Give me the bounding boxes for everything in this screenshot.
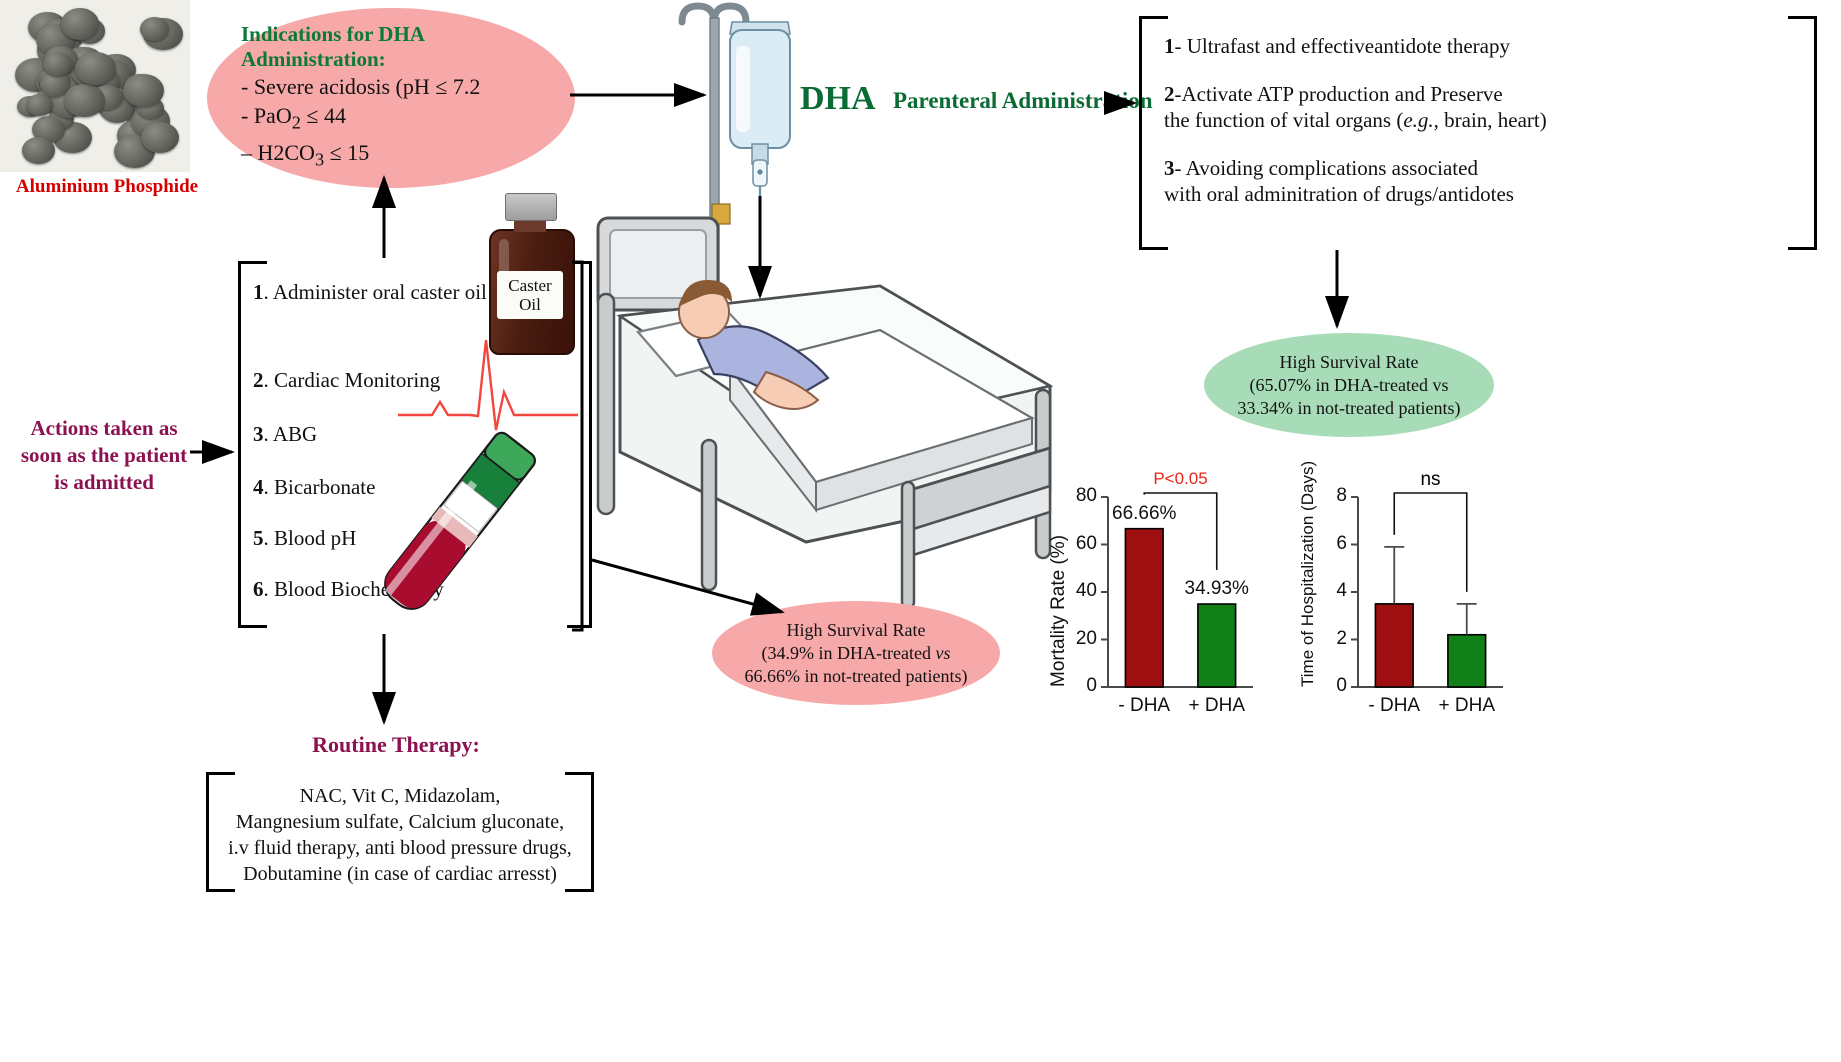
mortality-y-axis-label: Mortality Rate (%) (1048, 535, 1070, 687)
action-item-3: 3. ABG (253, 422, 317, 447)
indications-title-line2: Administration: (241, 47, 541, 72)
hospitalization-significance-label: ns (1371, 469, 1491, 491)
survival-green-line-1: High Survival Rate (1238, 351, 1461, 374)
action-item-1: 1. Administer oral caster oil (253, 280, 487, 305)
routine-line-4: Dobutamine (in case of cardiac arresst) (215, 861, 585, 887)
mortality-xtick-1: + DHA (1167, 695, 1267, 717)
aluminium-phosphide-caption: Aluminium Phosphide (0, 176, 214, 198)
bottle-label: CasterOil (497, 271, 563, 319)
action-item-5: 5. Blood pH (253, 526, 356, 551)
phosphide-pellet (123, 74, 164, 108)
benefit-item-1: 1- Ultrafast and effectiveantidote thera… (1164, 33, 1796, 59)
phosphide-pellet (43, 52, 72, 76)
dha-subtitle: Parenteral Administration (893, 88, 1153, 114)
phosphide-pellet (75, 52, 115, 85)
hospitalization-significance-bracket (1394, 493, 1467, 592)
hospitalization-bar-0 (1375, 604, 1413, 687)
indications-title: Indications for DHA Administration: (241, 22, 541, 72)
mortality-significance-label: P<0.05 (1121, 469, 1241, 489)
phosphide-pellet (140, 17, 169, 41)
hospitalization-xtick-1: + DHA (1417, 695, 1517, 717)
survival-green-line-3: 33.34% in not-treated patients) (1238, 397, 1461, 420)
phosphide-pellet (64, 84, 105, 117)
routine-line-2: Mangnesium sulfate, Calcium gluconate, (215, 809, 585, 835)
mortality-bar-label-1: 34.93% (1157, 578, 1277, 600)
survival-rate-green-ellipse: High Survival Rate (65.07% in DHA-treate… (1204, 333, 1494, 437)
phosphide-pellet (61, 8, 99, 39)
routine-therapy-box: NAC, Vit C, Midazolam, Mangnesium sulfat… (206, 772, 594, 892)
aluminium-phosphide-photo (0, 0, 190, 172)
indication-line-3: – H2CO3 ≤ 15 (241, 138, 541, 174)
mortality-bar-1 (1198, 604, 1236, 687)
survival-pink-line-1: High Survival Rate (745, 619, 968, 642)
phosphide-pellet (141, 122, 179, 153)
mortality-bar-label-0: 66.66% (1084, 503, 1204, 525)
routine-line-3: i.v fluid therapy, anti blood pressure d… (215, 835, 585, 861)
indication-line-1: - Severe acidosis (pH ≤ 7.2 (241, 72, 541, 101)
benefit-item-3: 3- Avoiding complications associatedwith… (1164, 155, 1796, 207)
indications-ellipse: Indications for DHA Administration: - Se… (207, 8, 575, 188)
routine-line-1: NAC, Vit C, Midazolam, (215, 783, 585, 809)
survival-rate-pink-ellipse: High Survival Rate (34.9% in DHA-treated… (712, 601, 1000, 705)
hospital-bed-with-patient (580, 190, 1100, 620)
phosphide-pellet (26, 94, 53, 116)
benefit-item-2: 2-Activate ATP production and Preserveth… (1164, 81, 1796, 133)
action-item-4: 4. Bicarbonate (253, 475, 375, 500)
indications-title-line1: Indications for DHA (241, 22, 541, 47)
caster-oil-bottle: CasterOil (487, 193, 573, 353)
dha-benefits-box: 1- Ultrafast and effectiveantidote thera… (1139, 16, 1817, 250)
survival-pink-line-3: 66.66% in not-treated patients) (745, 665, 968, 688)
actions-taken-label: Actions taken assoon as the patientis ad… (6, 415, 202, 496)
phosphide-pellet (22, 137, 55, 164)
hospitalization-y-axis-label: Time of Hospitalization (Days) (1298, 461, 1318, 687)
hospitalization-time-chart: 02468- DHA+ DHAnsTime of Hospitalization… (1296, 455, 1511, 725)
mortality-rate-chart: 02040608066.66%- DHA34.93%+ DHAP<0.05Mor… (1046, 455, 1261, 725)
survival-green-line-2: (65.07% in DHA-treated vs (1238, 374, 1461, 397)
routine-therapy-title: Routine Therapy: (236, 732, 556, 758)
indication-line-2: - PaO2 ≤ 44 (241, 101, 541, 137)
blood-tube-icon (370, 420, 540, 630)
mortality-bar-0 (1125, 529, 1163, 687)
hospitalization-bar-1 (1448, 635, 1486, 687)
survival-pink-line-2: (34.9% in DHA-treated vs (745, 642, 968, 665)
